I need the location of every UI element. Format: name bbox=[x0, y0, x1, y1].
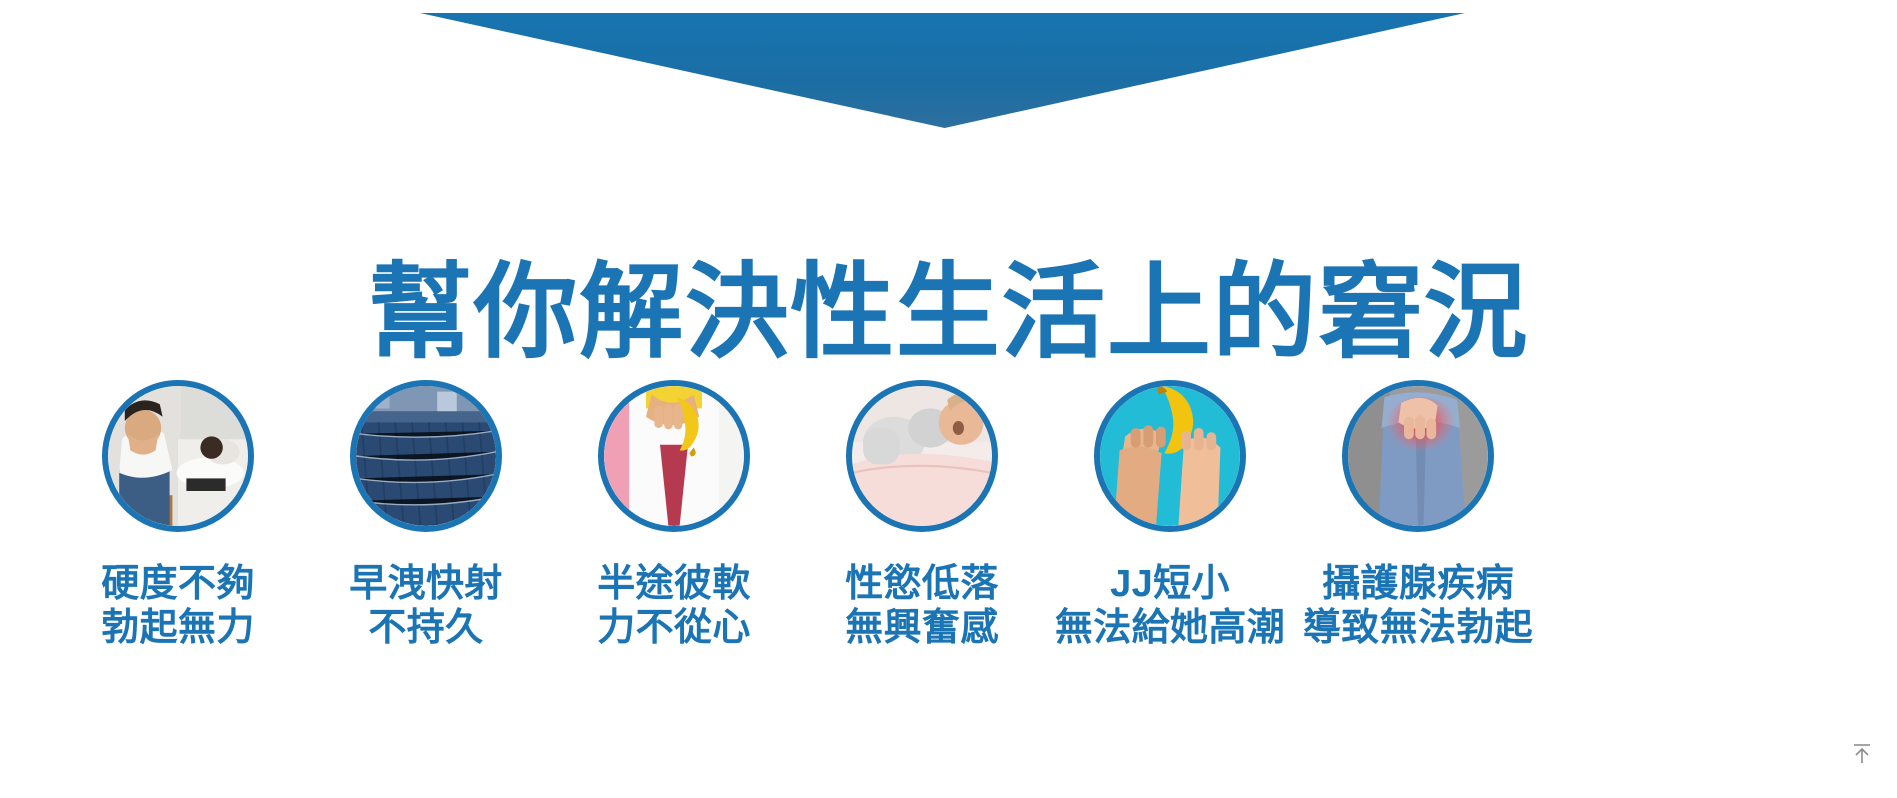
symptom-caption-line1: 早洩快射 bbox=[349, 563, 503, 605]
man-holding-banana-photo bbox=[604, 386, 744, 526]
stressed-man-on-bed-photo bbox=[108, 386, 248, 526]
symptom-caption-line1: JJ短小 bbox=[1110, 563, 1230, 605]
symptom-caption-line2: 導致無法勃起 bbox=[1303, 606, 1533, 650]
symptom-image-circle bbox=[1094, 380, 1246, 532]
symptom-image-circle bbox=[102, 380, 254, 532]
symptom-caption: 硬度不夠 勃起無力 bbox=[101, 562, 255, 650]
symptom-caption: 性慾低落 無興奮感 bbox=[845, 562, 999, 650]
symptom-caption: 攝護腺疾病 導致無法勃起 bbox=[1303, 562, 1533, 650]
symptom-item[interactable]: 早洩快射 不持久 bbox=[302, 380, 550, 650]
symptom-caption: 半途彼軟 力不從心 bbox=[597, 562, 751, 650]
symptom-caption-line2: 無法給她高潮 bbox=[1055, 606, 1285, 650]
page-title: 幫你解決性生活上的窘況 bbox=[0, 255, 1897, 371]
symptom-caption-line1: 性慾低落 bbox=[845, 563, 999, 605]
banner-triangle-shape bbox=[420, 13, 1465, 128]
denim-jeans-texture-photo bbox=[356, 386, 496, 526]
symptom-caption-line2: 無興奮感 bbox=[845, 606, 999, 650]
symptom-image-circle bbox=[350, 380, 502, 532]
symptom-caption-line1: 硬度不夠 bbox=[101, 563, 255, 605]
symptom-caption-line1: 攝護腺疾病 bbox=[1322, 563, 1514, 605]
symptom-item[interactable]: JJ短小 無法給她高潮 bbox=[1046, 380, 1294, 650]
hands-holding-banana-photo bbox=[1100, 386, 1240, 526]
arrow-up-icon bbox=[1851, 741, 1873, 765]
symptom-item[interactable]: 硬度不夠 勃起無力 bbox=[54, 380, 302, 650]
scroll-to-top-button[interactable] bbox=[1845, 736, 1879, 770]
prostate-pain-photo bbox=[1348, 386, 1488, 526]
bored-woman-in-bed-photo bbox=[852, 386, 992, 526]
symptom-image-circle bbox=[1342, 380, 1494, 532]
symptom-caption-line2: 不持久 bbox=[349, 606, 503, 650]
symptom-image-circle bbox=[598, 380, 750, 532]
symptom-item[interactable]: 性慾低落 無興奮感 bbox=[798, 380, 1046, 650]
symptom-caption: 早洩快射 不持久 bbox=[349, 562, 503, 650]
symptom-caption-line2: 力不從心 bbox=[597, 606, 751, 650]
symptom-image-circle bbox=[846, 380, 998, 532]
symptom-caption: JJ短小 無法給她高潮 bbox=[1055, 562, 1285, 650]
symptom-item[interactable]: 半途彼軟 力不從心 bbox=[550, 380, 798, 650]
symptom-caption-line2: 勃起無力 bbox=[101, 606, 255, 650]
symptom-caption-line1: 半途彼軟 bbox=[597, 563, 751, 605]
symptom-items-row: 硬度不夠 勃起無力 bbox=[0, 380, 1897, 650]
top-banner bbox=[0, 0, 1897, 140]
symptom-item[interactable]: 攝護腺疾病 導致無法勃起 bbox=[1294, 380, 1542, 650]
